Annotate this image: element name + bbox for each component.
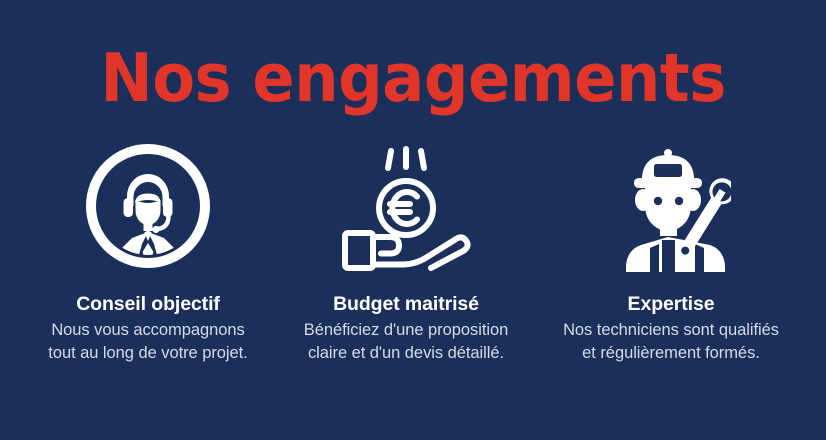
technician-with-wrench-icon [611, 140, 731, 272]
card-description-line-1: Bénéficiez d'une proposition [304, 319, 508, 342]
card-title: Budget maitrisé [333, 292, 479, 316]
card-description: Nos techniciens sont qualifiés et réguli… [563, 319, 779, 365]
page-title: Nos engagements [100, 42, 725, 114]
card-title: Expertise [628, 292, 715, 316]
card-description-line-2: claire et d'un devis détaillé. [304, 342, 508, 365]
card-description: Bénéficiez d'une proposition claire et d… [304, 319, 508, 365]
card-description-line-1: Nos techniciens sont qualifiés [563, 319, 779, 342]
card-description-line-2: tout au long de votre projet. [48, 342, 247, 365]
engagement-cards: Conseil objectif Nous vous accompagnons … [0, 140, 826, 365]
engagements-banner: Nos engagements [0, 0, 826, 440]
card-description: Nous vous accompagnons tout au long de v… [48, 319, 247, 365]
card-title: Conseil objectif [76, 292, 220, 316]
card-description-line-1: Nous vous accompagnons [48, 319, 247, 342]
headset-support-agent-icon [82, 140, 214, 272]
engagement-card-budget-maitrise: Budget maitrisé Bénéficiez d'une proposi… [277, 140, 535, 365]
page-title-container: Nos engagements [0, 42, 826, 114]
card-description-line-2: et régulièrement formés. [563, 342, 779, 365]
engagement-card-expertise: Expertise Nos techniciens sont qualifiés… [535, 140, 807, 365]
engagement-card-conseil-objectif: Conseil objectif Nous vous accompagnons … [19, 140, 277, 365]
hand-holding-euro-coin-icon [335, 140, 477, 272]
